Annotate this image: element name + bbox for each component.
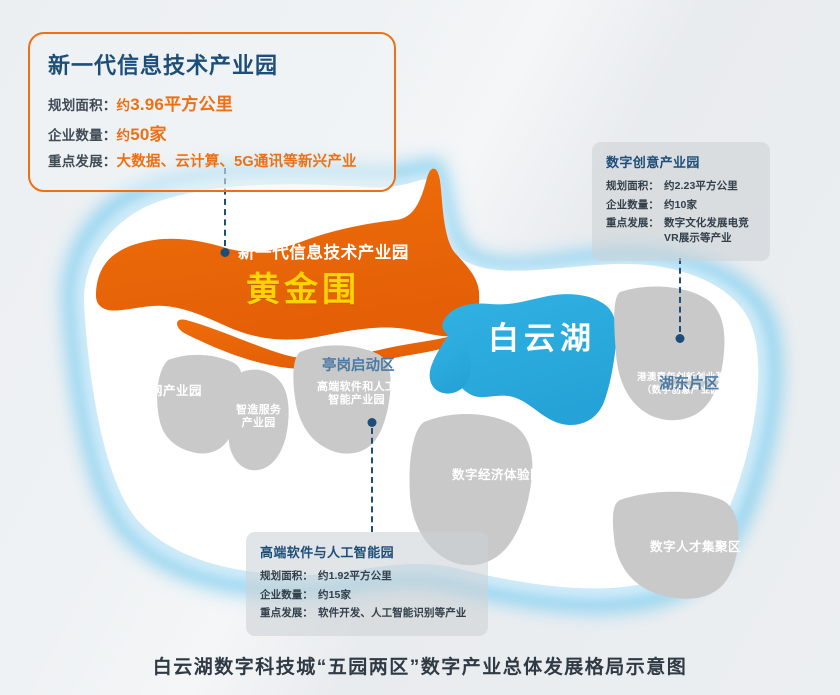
- callout-high-end-software-ai-park[interactable]: 高端软件与人工智能园 规划面积： 约1.92平方公里 企业数量： 约15家 重点…: [246, 532, 488, 636]
- callout-row-prefix: 约: [117, 128, 131, 143]
- callout-row-area: 规划面积：约3.96平方公里: [48, 90, 376, 115]
- callout-row-suffix: 家: [150, 125, 167, 144]
- connector-dot: [368, 418, 377, 427]
- callout-row-value: 数字文化发展电竞 VR展示等产业: [664, 215, 749, 245]
- callout-row-value: 50: [130, 125, 149, 144]
- callout-row-focus: 重点发展：大数据、云计算、5G通讯等新兴产业: [48, 150, 376, 171]
- callout-row-key: 重点发展：: [606, 215, 659, 245]
- figure-caption: 白云湖数字科技城“五园两区”数字产业总体发展格局示意图: [0, 652, 840, 679]
- map-label-baiyunhu-lake: 白云湖: [488, 320, 596, 358]
- callout-row-focus: 重点发展： 软件开发、人工智能识别等产业: [260, 605, 474, 620]
- callout-row-value: 约15家: [318, 587, 351, 602]
- callout-row-value: 软件开发、人工智能识别等产业: [318, 605, 466, 620]
- infographic-canvas: 新一代信息技术产业园 黄金围 白云湖 物联网产业园 智造服务 产业园 亭岗启动区…: [0, 0, 840, 695]
- callout-row-key: 企业数量：: [606, 197, 659, 212]
- callout-row-value: 大数据、云计算、5G通讯等新兴产业: [117, 154, 357, 170]
- map-label-tinggang-sub: 高端软件和人工 智能产业园: [317, 381, 396, 408]
- map-label-digital-talent-zone: 数字人才集聚区: [650, 540, 741, 555]
- map-label-hudong-district: 湖东片区: [659, 375, 719, 393]
- callout-row-value: 约10家: [664, 197, 697, 212]
- callout-row-key: 规划面积：: [606, 178, 659, 193]
- callout-row-key: 企业数量：: [48, 128, 117, 143]
- map-label-orange-zone-sub: 新一代信息技术产业园: [238, 243, 409, 263]
- map-label-digital-economy-zone: 数字经济体验区: [452, 468, 543, 483]
- map-label-iot-park: 物联网产业园: [124, 384, 202, 399]
- callout-row-value: 约2.23平方公里: [664, 178, 738, 193]
- callout-row-key: 重点发展：: [48, 154, 117, 169]
- callout-row-enterprises: 企业数量：约50家: [48, 120, 376, 145]
- callout-row-enterprises: 企业数量： 约15家: [260, 587, 474, 602]
- callout-row-enterprises: 企业数量： 约10家: [606, 197, 756, 212]
- connector-line: [371, 428, 373, 532]
- map-label-huangjinwei: 黄金围: [246, 270, 360, 311]
- callout-title: 数字创意产业园: [606, 152, 756, 171]
- callout-row-area: 规划面积： 约1.92平方公里: [260, 568, 474, 583]
- callout-row-key: 企业数量：: [260, 587, 313, 602]
- map-label-smart-manufacturing: 智造服务 产业园: [236, 404, 281, 431]
- callout-row-key: 规划面积：: [260, 568, 313, 583]
- callout-row-prefix: 约: [117, 98, 131, 113]
- map-label-tinggang-title: 亭岗启动区: [322, 358, 395, 376]
- callout-row-area: 规划面积： 约2.23平方公里: [606, 178, 756, 193]
- callout-row-value: 3.96: [130, 95, 164, 114]
- connector-digital-creative-park: [673, 258, 687, 348]
- callout-row-key: 规划面积：: [48, 98, 117, 113]
- callout-title: 高端软件与人工智能园: [260, 542, 474, 561]
- callout-row-value: 约1.92平方公里: [318, 568, 392, 583]
- connector-line: [679, 258, 681, 332]
- callout-row-suffix: 平方公里: [164, 95, 233, 114]
- callout-title: 新一代信息技术产业园: [48, 48, 376, 80]
- callout-digital-creative-park[interactable]: 数字创意产业园 规划面积： 约2.23平方公里 企业数量： 约10家 重点发展：…: [592, 142, 770, 261]
- callout-row-key: 重点发展：: [260, 605, 313, 620]
- callout-new-generation-it-park[interactable]: 新一代信息技术产业园 规划面积：约3.96平方公里 企业数量：约50家 重点发展…: [28, 32, 396, 192]
- connector-dot: [221, 248, 230, 257]
- connector-dot: [676, 334, 685, 343]
- callout-row-focus: 重点发展： 数字文化发展电竞 VR展示等产业: [606, 215, 756, 245]
- connector-high-end-software-ai-park: [365, 418, 379, 534]
